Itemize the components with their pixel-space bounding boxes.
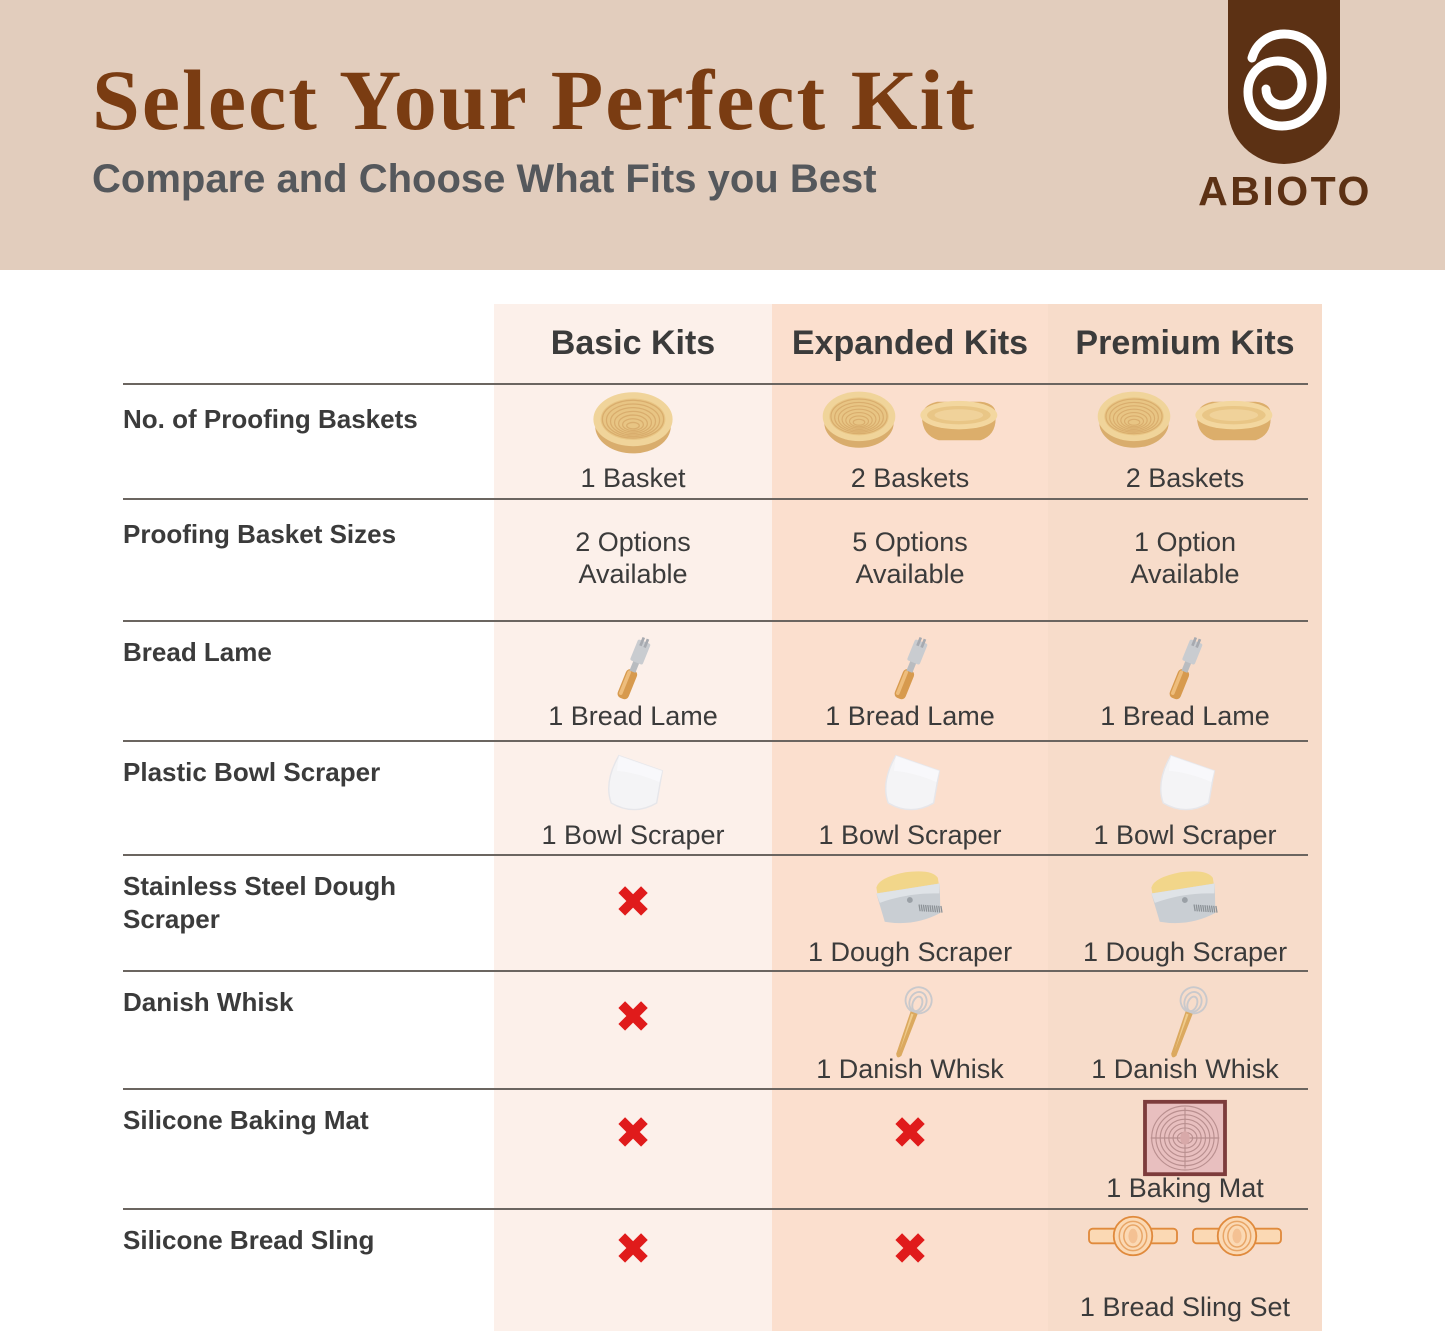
row-divider bbox=[123, 1088, 1308, 1090]
artwork-bread-lame bbox=[883, 630, 937, 708]
table-cell-caption: 1 Danish Whisk bbox=[772, 1053, 1048, 1085]
cell-value-text: 2 Baskets bbox=[1126, 462, 1245, 494]
cell-value-text: 1 Bread Sling Set bbox=[1080, 1291, 1290, 1323]
unavailable-cross-icon: ✖ bbox=[892, 1228, 929, 1272]
plastic-bowl-scraper-icon bbox=[867, 750, 953, 820]
column-header-basic: Basic Kits bbox=[494, 304, 772, 383]
table-cell bbox=[1048, 1098, 1322, 1178]
table-cell bbox=[772, 750, 1048, 820]
row-divider bbox=[123, 498, 1308, 500]
cell-value-text: 1 Bread Lame bbox=[825, 700, 995, 732]
table-cell bbox=[1048, 385, 1322, 451]
table-cell-caption: 1 Dough Scraper bbox=[772, 936, 1048, 968]
table-cell bbox=[494, 630, 772, 708]
cell-value-text: 1 Bowl Scraper bbox=[541, 819, 724, 851]
column-header-premium: Premium Kits bbox=[1048, 304, 1322, 383]
table-cell-caption: 1 Bread Lame bbox=[772, 700, 1048, 732]
table-cell-caption: 1 Bread Lame bbox=[494, 700, 772, 732]
cell-value-text: 1 Baking Mat bbox=[1106, 1172, 1264, 1204]
page-title: Select Your Perfect Kit bbox=[92, 52, 976, 148]
round-proofing-basket-icon bbox=[816, 385, 902, 451]
artwork-basket-pair bbox=[816, 385, 1004, 451]
unavailable-cross-icon: ✖ bbox=[615, 996, 652, 1040]
table-cell: ✖ bbox=[494, 1228, 772, 1272]
table-cell-caption: 5 OptionsAvailable bbox=[772, 526, 1048, 590]
artwork-basket-pair bbox=[1091, 385, 1279, 451]
table-header-row: Basic Kits Expanded Kits Premium Kits bbox=[0, 304, 1445, 383]
comparison-table: Basic Kits Expanded Kits Premium Kits No… bbox=[0, 270, 1445, 1331]
column-header-expanded: Expanded Kits bbox=[772, 304, 1048, 383]
table-cell-caption: 1 Dough Scraper bbox=[1048, 936, 1322, 968]
oval-proofing-basket-icon bbox=[1187, 391, 1279, 451]
table-cell: ✖ bbox=[494, 1112, 772, 1156]
artwork-bowl-scraper bbox=[590, 750, 676, 820]
row-label: Silicone Baking Mat bbox=[123, 1104, 483, 1137]
cell-value-text: 1 Dough Scraper bbox=[808, 936, 1012, 968]
cell-value-text: 1 Danish Whisk bbox=[816, 1053, 1004, 1085]
abioto-spiral-icon bbox=[1238, 26, 1330, 138]
round-proofing-basket-icon bbox=[587, 385, 679, 457]
row-divider bbox=[123, 740, 1308, 742]
table-cell-caption: 1 Bowl Scraper bbox=[494, 819, 772, 851]
unavailable-cross-icon: ✖ bbox=[615, 1228, 652, 1272]
page-subtitle: Compare and Choose What Fits you Best bbox=[92, 154, 976, 204]
artwork-bowl-scraper bbox=[867, 750, 953, 820]
title-block: Select Your Perfect Kit Compare and Choo… bbox=[92, 52, 976, 204]
artwork-bread-lame bbox=[606, 630, 660, 708]
table-cell: ✖ bbox=[494, 881, 772, 925]
table-cell bbox=[1048, 630, 1322, 708]
round-proofing-basket-icon bbox=[1091, 385, 1177, 451]
table-cell-caption: 2 Baskets bbox=[1048, 462, 1322, 494]
unavailable-cross-icon: ✖ bbox=[615, 1112, 652, 1156]
table-cell-caption: 1 Bowl Scraper bbox=[772, 819, 1048, 851]
artwork-bread-sling bbox=[1086, 1214, 1284, 1258]
table-cell bbox=[494, 750, 772, 820]
artwork-dough-scraper bbox=[865, 867, 955, 935]
table-cell: ✖ bbox=[772, 1112, 1048, 1156]
plastic-bowl-scraper-icon bbox=[590, 750, 676, 820]
row-divider bbox=[123, 854, 1308, 856]
row-divider bbox=[123, 1208, 1308, 1210]
table-cell-caption: 1 OptionAvailable bbox=[1048, 526, 1322, 590]
comparison-chart-page: Select Your Perfect Kit Compare and Choo… bbox=[0, 0, 1445, 1331]
cell-value-text: 1 Bowl Scraper bbox=[1093, 819, 1276, 851]
bread-lame-icon bbox=[606, 630, 660, 708]
plastic-bowl-scraper-icon bbox=[1142, 750, 1228, 820]
unavailable-cross-icon: ✖ bbox=[892, 1112, 929, 1156]
cell-value-text: 5 OptionsAvailable bbox=[852, 526, 968, 590]
table-cell-caption: 1 Bread Sling Set bbox=[1048, 1291, 1322, 1323]
table-cell-caption: 1 Bread Lame bbox=[1048, 700, 1322, 732]
cell-value-text: 1 Bowl Scraper bbox=[818, 819, 1001, 851]
cell-value-text: 1 Basket bbox=[580, 462, 685, 494]
stainless-dough-scraper-icon bbox=[865, 867, 955, 935]
table-cell bbox=[494, 385, 772, 457]
row-label: Silicone Bread Sling bbox=[123, 1224, 483, 1257]
table-cell-caption: 1 Danish Whisk bbox=[1048, 1053, 1322, 1085]
row-label: Proofing Basket Sizes bbox=[123, 518, 483, 551]
table-cell-caption: 1 Bowl Scraper bbox=[1048, 819, 1322, 851]
row-divider bbox=[123, 970, 1308, 972]
row-label: No. of Proofing Baskets bbox=[123, 403, 483, 436]
cell-value-text: 1 Danish Whisk bbox=[1091, 1053, 1279, 1085]
cell-value-text: 1 Bread Lame bbox=[548, 700, 718, 732]
cell-value-text: 1 OptionAvailable bbox=[1130, 526, 1239, 590]
table-cell bbox=[1048, 750, 1322, 820]
brand-logo: ABIOTO bbox=[1180, 0, 1390, 230]
bread-lame-icon bbox=[883, 630, 937, 708]
artwork-dough-scraper bbox=[1140, 867, 1230, 935]
table-cell: ✖ bbox=[494, 996, 772, 1040]
cell-value-text: 2 Baskets bbox=[851, 462, 970, 494]
table-cell-caption: 1 Basket bbox=[494, 462, 772, 494]
table-cell-caption: 1 Baking Mat bbox=[1048, 1172, 1322, 1204]
bread-lame-icon bbox=[1158, 630, 1212, 708]
artwork-bread-lame bbox=[1158, 630, 1212, 708]
table-cell bbox=[1048, 1214, 1322, 1258]
artwork-bowl-scraper bbox=[1142, 750, 1228, 820]
table-cell bbox=[772, 630, 1048, 708]
table-cell bbox=[772, 385, 1048, 451]
silicone-bread-sling-icon bbox=[1086, 1214, 1180, 1258]
silicone-baking-mat-icon bbox=[1141, 1098, 1229, 1178]
cell-value-text: 1 Bread Lame bbox=[1100, 700, 1270, 732]
stainless-dough-scraper-icon bbox=[1140, 867, 1230, 935]
table-cell bbox=[772, 867, 1048, 935]
table-cell bbox=[1048, 867, 1322, 935]
oval-proofing-basket-icon bbox=[912, 391, 1004, 451]
silicone-bread-sling-icon bbox=[1190, 1214, 1284, 1258]
table-cell-caption: 2 OptionsAvailable bbox=[494, 526, 772, 590]
row-label: Plastic Bowl Scraper bbox=[123, 756, 483, 789]
table-cell-caption: 2 Baskets bbox=[772, 462, 1048, 494]
row-label: Bread Lame bbox=[123, 636, 483, 669]
row-label: Stainless Steel Dough Scraper bbox=[123, 870, 483, 936]
cell-value-text: 2 OptionsAvailable bbox=[575, 526, 691, 590]
artwork-basket-round bbox=[587, 385, 679, 457]
unavailable-cross-icon: ✖ bbox=[615, 881, 652, 925]
row-label: Danish Whisk bbox=[123, 986, 483, 1019]
table-cell: ✖ bbox=[772, 1228, 1048, 1272]
cell-value-text: 1 Dough Scraper bbox=[1083, 936, 1287, 968]
artwork-baking-mat bbox=[1141, 1098, 1229, 1178]
row-divider bbox=[123, 620, 1308, 622]
brand-name: ABIOTO bbox=[1180, 168, 1390, 215]
